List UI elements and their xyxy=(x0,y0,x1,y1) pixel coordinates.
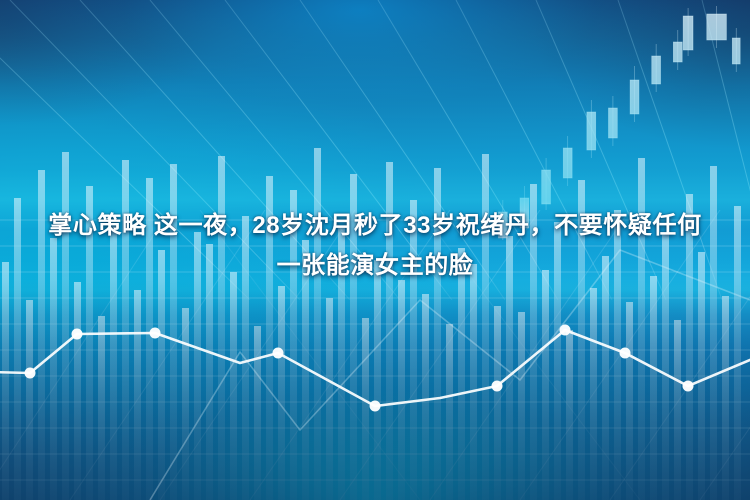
headline-line-2: 一张能演女主的脸 xyxy=(0,246,750,286)
headline-text: 掌心策略 这一夜，28岁沈月秒了33岁祝绪丹，不要怀疑任何 一张能演女主的脸 xyxy=(0,206,750,286)
banner-image: 掌心策略 这一夜，28岁沈月秒了33岁祝绪丹，不要怀疑任何 一张能演女主的脸 xyxy=(0,0,750,500)
headline-line-1: 掌心策略 这一夜，28岁沈月秒了33岁祝绪丹，不要怀疑任何 xyxy=(0,206,750,246)
